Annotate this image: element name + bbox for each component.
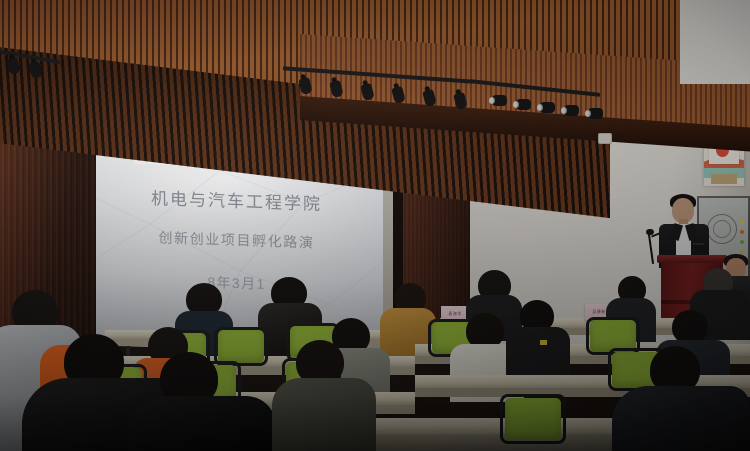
jacket-logo [540, 340, 547, 345]
slide-heading-date: 8年3月1 [90, 268, 383, 298]
audience-body [126, 396, 276, 451]
chair-frame [500, 394, 566, 444]
audience-head [672, 310, 708, 344]
lecture-hall-photo: 湖州职业技术学院 HUZHOU VOCATIONAL & TECHNICAL C… [0, 0, 750, 451]
spot-light [540, 102, 555, 113]
ceiling-white-bay [680, 0, 750, 84]
audience-body [612, 386, 750, 451]
audience-body [272, 378, 376, 451]
microphone-head-icon [646, 229, 654, 235]
board-dot [740, 240, 744, 244]
name-card-text: 袁海华 [448, 311, 461, 317]
spot-light [492, 95, 507, 106]
board-diagram-inner-ring [713, 220, 731, 238]
spot-light [564, 105, 579, 116]
audience-body [506, 327, 570, 381]
slide-heading-event: 创新创业项目孵化路演 [90, 225, 383, 255]
spot-light [516, 99, 531, 110]
board-dot [740, 220, 744, 224]
board-dot [740, 230, 744, 234]
podium-top [657, 255, 727, 263]
board-dot [740, 250, 744, 254]
speaker-pocket [693, 243, 704, 245]
name-card-text: 吴建新 [592, 309, 605, 315]
wall-speaker-icon [598, 133, 612, 144]
spot-light [588, 108, 603, 119]
slide-heading-department: 机电与汽车工程学院 [90, 182, 383, 217]
poster-image-strip [711, 174, 737, 184]
